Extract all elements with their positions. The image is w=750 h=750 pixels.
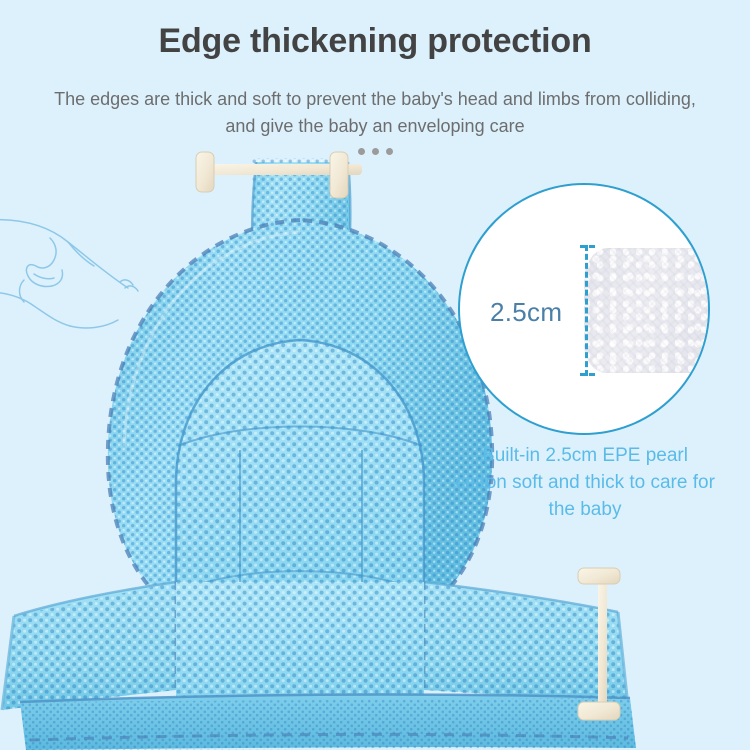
bracket-cap-bottom — [580, 373, 595, 376]
measurement-label: 2.5cm — [490, 297, 562, 328]
product-feature-banner: Edge thickening protection The edges are… — [0, 0, 750, 750]
page-subtitle: The edges are thick and soft to prevent … — [40, 86, 710, 140]
bracket-line — [585, 245, 588, 376]
page-title: Edge thickening protection — [0, 22, 750, 61]
product-bottom-strip — [14, 690, 644, 750]
epe-foam-block — [584, 248, 710, 373]
bottom-right-clip-lower — [578, 702, 620, 720]
top-left-clip — [196, 152, 214, 192]
measurement-bracket — [580, 245, 594, 376]
bottom-right-clip-upper — [578, 568, 620, 584]
zoom-callout-circle: 2.5cm — [458, 183, 710, 435]
callout-caption: Built-in 2.5cm EPE pearl cotton soft and… — [455, 442, 715, 523]
top-right-clip — [330, 152, 348, 198]
